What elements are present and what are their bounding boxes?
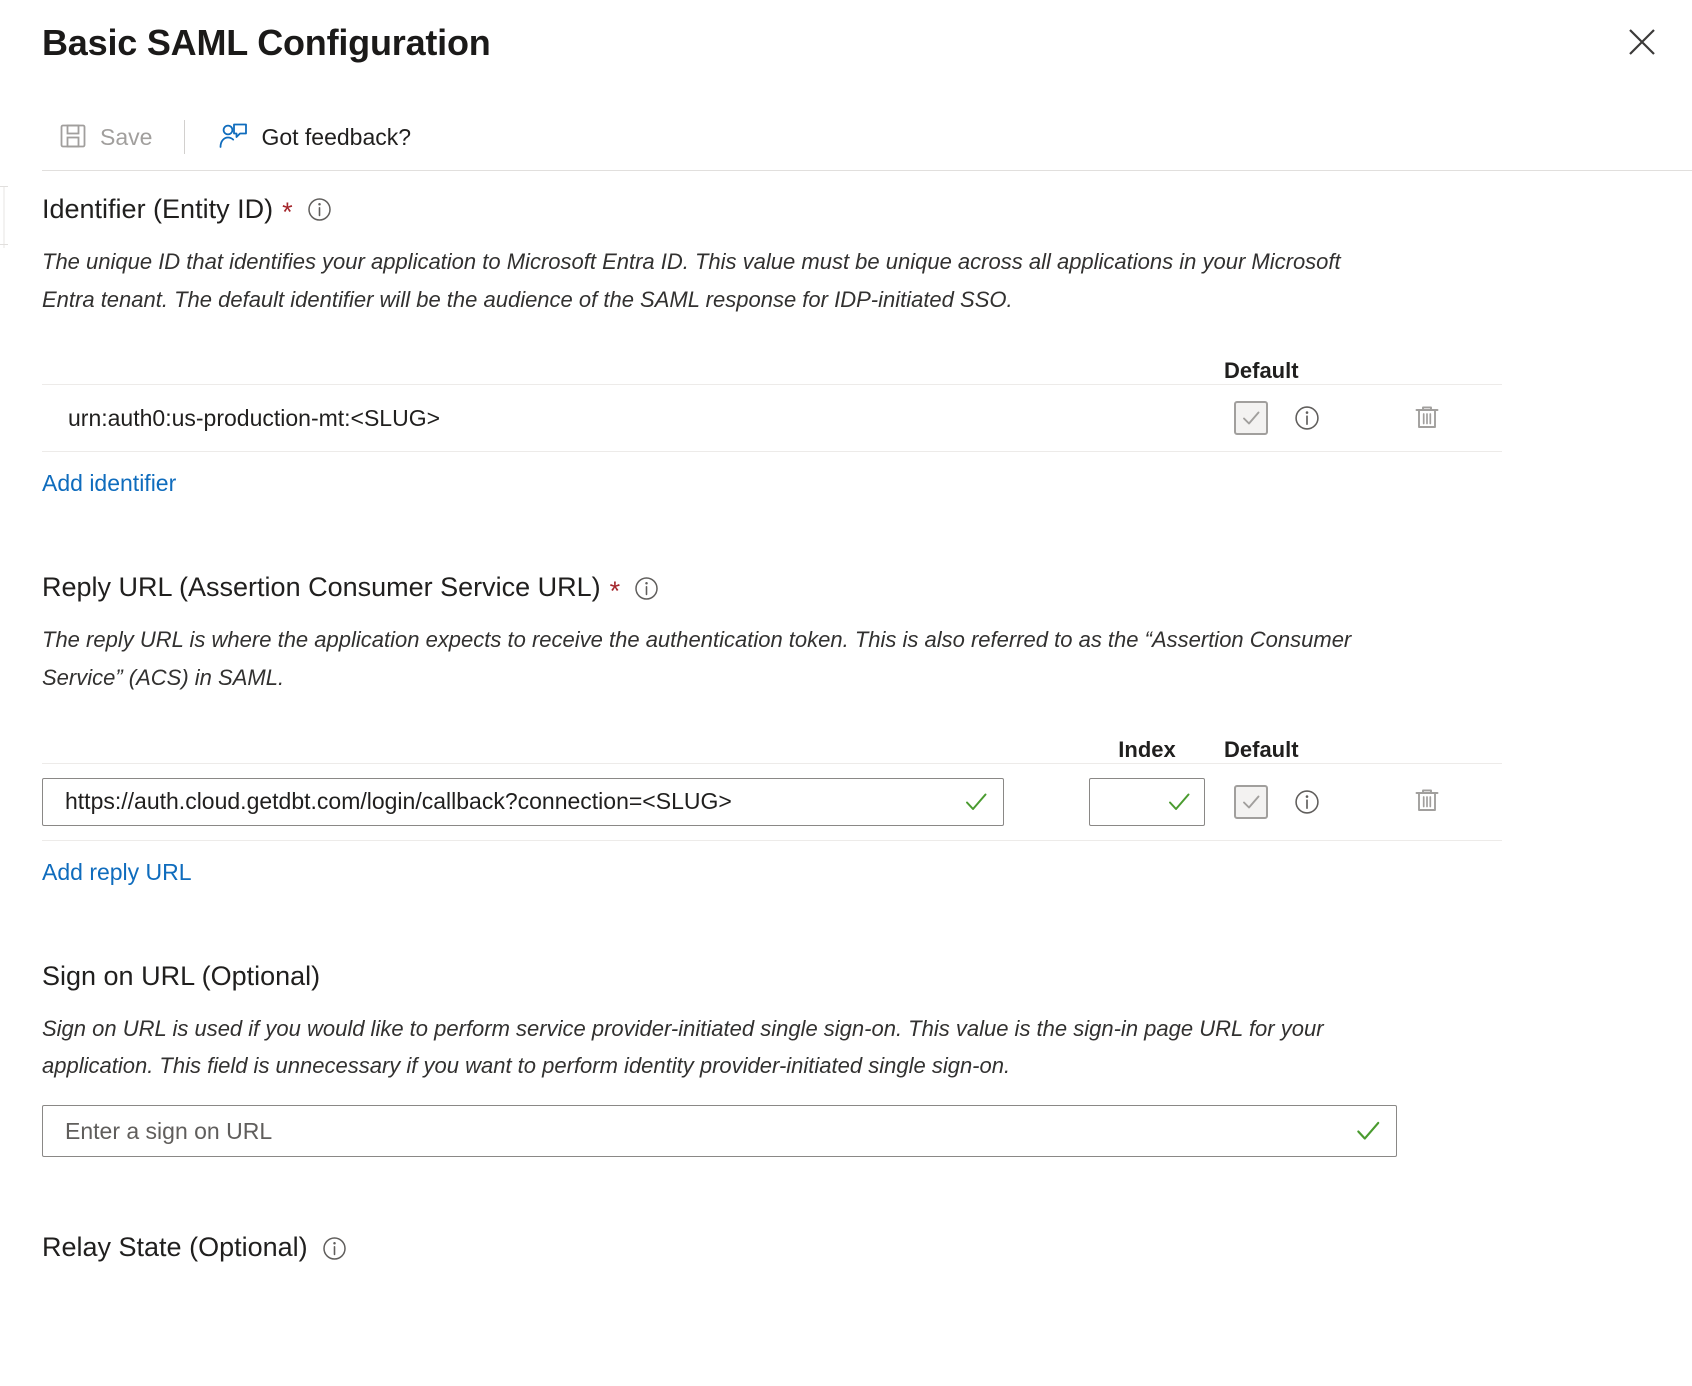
relay-state-info-icon[interactable] <box>322 1236 347 1261</box>
identifier-value: urn:auth0:us-production-mt:<SLUG> <box>68 405 440 431</box>
identifier-required-marker: * <box>282 199 293 226</box>
sign-on-url-input[interactable]: Enter a sign on URL <box>42 1105 1397 1157</box>
save-button[interactable]: Save <box>44 111 166 163</box>
section-relay-state: Relay State (Optional) <box>42 1231 1692 1265</box>
identifier-table-header: Default <box>42 340 1502 384</box>
identifier-delete-button[interactable] <box>1412 402 1442 435</box>
reply-url-table-header: Index Default <box>42 719 1502 763</box>
green-check-icon <box>1354 1117 1382 1145</box>
close-icon <box>1625 25 1659 59</box>
green-check-icon <box>1166 789 1192 815</box>
relay-state-section-title: Relay State (Optional) <box>42 1231 308 1265</box>
reply-url-column-default-header: Default <box>1212 737 1352 763</box>
relay-state-section-heading: Relay State (Optional) <box>42 1231 1692 1265</box>
identifier-default-checkbox <box>1234 401 1268 435</box>
reply-url-value-cell: https://auth.cloud.getdbt.com/login/call… <box>42 778 1082 826</box>
got-feedback-label: Got feedback? <box>261 124 411 151</box>
panel-header: Basic SAML Configuration <box>0 0 1692 104</box>
got-feedback-button[interactable]: Got feedback? <box>203 111 425 163</box>
close-button[interactable] <box>1618 18 1666 66</box>
reply-url-section-heading: Reply URL (Assertion Consumer Service UR… <box>42 571 1692 605</box>
identifier-value-cell[interactable]: urn:auth0:us-production-mt:<SLUG> <box>42 405 1212 432</box>
reply-url-input-value: https://auth.cloud.getdbt.com/login/call… <box>43 788 1003 815</box>
identifier-section-title: Identifier (Entity ID) <box>42 193 273 227</box>
reply-url-input[interactable]: https://auth.cloud.getdbt.com/login/call… <box>42 778 1004 826</box>
basic-saml-configuration-panel: Basic SAML Configuration Save <box>0 0 1692 1386</box>
reply-url-default-cell <box>1212 785 1352 819</box>
reply-url-index-cell <box>1082 778 1212 826</box>
reply-url-delete-cell <box>1352 785 1502 818</box>
reply-url-info-icon[interactable] <box>634 576 659 601</box>
person-feedback-icon <box>217 120 249 155</box>
add-reply-url-link[interactable]: Add reply URL <box>42 859 192 886</box>
reply-url-column-index-header: Index <box>1082 737 1212 763</box>
table-row: https://auth.cloud.getdbt.com/login/call… <box>42 763 1502 841</box>
page-title: Basic SAML Configuration <box>42 0 1692 67</box>
identifier-column-default-header: Default <box>1212 358 1352 384</box>
green-check-icon <box>963 789 989 815</box>
section-sign-on-url: Sign on URL (Optional) Sign on URL is us… <box>42 960 1692 1157</box>
sign-on-url-section-heading: Sign on URL (Optional) <box>42 960 1692 994</box>
sign-on-url-description: Sign on URL is used if you would like to… <box>42 1010 1377 1086</box>
table-row: urn:auth0:us-production-mt:<SLUG> <box>42 384 1502 452</box>
trash-icon <box>1412 785 1442 818</box>
command-bar: Save Got feedback? <box>0 104 1692 170</box>
identifier-default-cell <box>1212 401 1352 435</box>
reply-url-delete-button[interactable] <box>1412 785 1442 818</box>
identifier-info-icon[interactable] <box>307 197 332 222</box>
sign-on-url-input-placeholder: Enter a sign on URL <box>43 1118 1396 1145</box>
trash-icon <box>1412 402 1442 435</box>
reply-url-section-title: Reply URL (Assertion Consumer Service UR… <box>42 571 601 605</box>
save-disk-icon <box>58 121 88 154</box>
reply-url-table: Index Default https://auth.cloud.getdbt.… <box>42 719 1502 841</box>
identifier-section-heading: Identifier (Entity ID) * <box>42 193 1692 227</box>
section-reply-url: Reply URL (Assertion Consumer Service UR… <box>42 571 1692 885</box>
section-identifier: Identifier (Entity ID) * The unique ID t… <box>42 171 1692 497</box>
reply-url-default-checkbox <box>1234 785 1268 819</box>
add-identifier-link[interactable]: Add identifier <box>42 470 176 497</box>
identifier-description: The unique ID that identifies your appli… <box>42 243 1377 319</box>
sign-on-url-section-title: Sign on URL (Optional) <box>42 960 320 994</box>
identifier-delete-cell <box>1352 402 1502 435</box>
identifier-table: Default urn:auth0:us-production-mt:<SLUG… <box>42 340 1502 452</box>
reply-url-description: The reply URL is where the application e… <box>42 621 1377 697</box>
identifier-row-info-icon[interactable] <box>1294 405 1320 431</box>
reply-url-index-input[interactable] <box>1089 778 1205 826</box>
save-button-label: Save <box>100 124 152 151</box>
command-bar-divider <box>184 120 185 154</box>
reply-url-required-marker: * <box>610 578 621 605</box>
reply-url-row-info-icon[interactable] <box>1294 789 1320 815</box>
panel-content: Identifier (Entity ID) * The unique ID t… <box>0 171 1692 1265</box>
